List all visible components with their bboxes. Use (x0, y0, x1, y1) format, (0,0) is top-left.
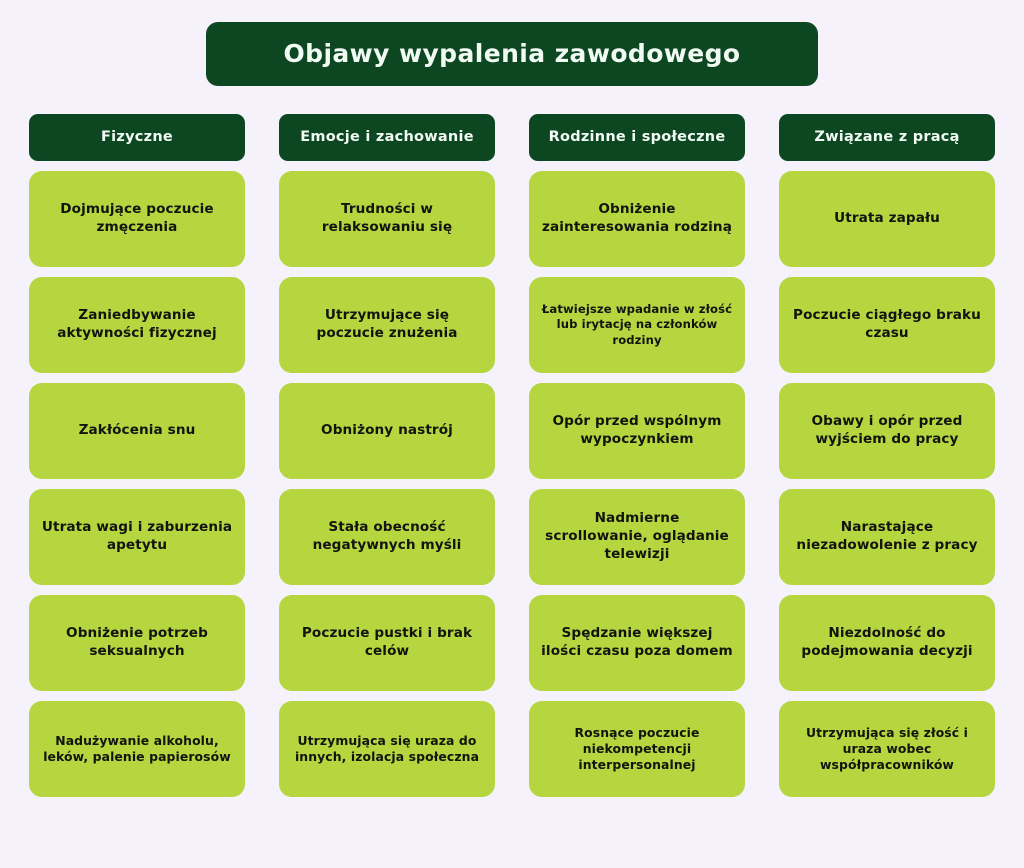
symptom-label: Obniżony nastrój (321, 422, 453, 440)
symptom-label: Utrzymujące się poczucie znużenia (291, 307, 483, 343)
symptom-card: Zaniedbywanie aktywności fizycznej (29, 277, 245, 373)
category-column-zwiazane-z-praca: Związane z pracą Utrata zapału Poczucie … (779, 114, 995, 804)
symptom-label: Utrzymująca się uraza do innych, izolacj… (291, 733, 483, 765)
symptom-label: Utrzymująca się złość i uraza wobec wspó… (791, 725, 983, 773)
symptom-card: Utrzymujące się poczucie znużenia (279, 277, 495, 373)
symptom-label: Narastające niezadowolenie z pracy (791, 519, 983, 555)
symptom-label: Dojmujące poczucie zmęczenia (41, 201, 233, 237)
category-column-rodzinne-i-spoleczne: Rodzinne i społeczne Obniżenie zainteres… (529, 114, 745, 804)
symptom-card: Łatwiejsze wpadanie w złość lub irytację… (529, 277, 745, 373)
symptom-card: Trudności w relaksowaniu się (279, 171, 495, 267)
symptom-label: Spędzanie większej ilości czasu poza dom… (541, 625, 733, 661)
symptom-label: Obawy i opór przed wyjściem do pracy (791, 413, 983, 449)
symptom-label: Trudności w relaksowaniu się (291, 201, 483, 237)
symptom-label: Zakłócenia snu (79, 422, 196, 440)
symptom-label: Rosnące poczucie niekompetencji interper… (541, 725, 733, 773)
symptom-card: Utrata zapału (779, 171, 995, 267)
page-title: Objawy wypalenia zawodowego (284, 40, 741, 68)
symptom-card: Obawy i opór przed wyjściem do pracy (779, 383, 995, 479)
column-header-label: Rodzinne i społeczne (549, 130, 726, 146)
symptom-card: Nadużywanie alkoholu, leków, palenie pap… (29, 701, 245, 797)
symptom-label: Utrata zapału (834, 210, 940, 228)
column-header-rodzinne-i-spoleczne: Rodzinne i społeczne (529, 114, 745, 161)
symptom-card: Obniżenie potrzeb seksualnych (29, 595, 245, 691)
symptom-label: Nadmierne scrollowanie, oglądanie telewi… (541, 510, 733, 564)
symptom-label: Opór przed wspólnym wypoczynkiem (541, 413, 733, 449)
symptom-label: Niezdolność do podejmowania decyzji (791, 625, 983, 661)
column-header-label: Związane z pracą (814, 130, 959, 146)
symptom-card: Obniżenie zainteresowania rodziną (529, 171, 745, 267)
symptom-label: Obniżenie zainteresowania rodziną (541, 201, 733, 237)
column-header-fizyczne: Fizyczne (29, 114, 245, 161)
symptom-card: Obniżony nastrój (279, 383, 495, 479)
symptom-label: Obniżenie potrzeb seksualnych (41, 625, 233, 661)
symptom-label: Poczucie pustki i brak celów (291, 625, 483, 661)
symptom-card: Rosnące poczucie niekompetencji interper… (529, 701, 745, 797)
symptom-card: Poczucie ciągłego braku czasu (779, 277, 995, 373)
symptom-label: Poczucie ciągłego braku czasu (791, 307, 983, 343)
category-column-emocje-i-zachowanie: Emocje i zachowanie Trudności w relaksow… (279, 114, 495, 804)
symptom-card: Opór przed wspólnym wypoczynkiem (529, 383, 745, 479)
symptoms-grid: Fizyczne Dojmujące poczucie zmęczenia Za… (29, 114, 995, 804)
symptom-card: Utrzymująca się złość i uraza wobec wspó… (779, 701, 995, 797)
symptom-label: Łatwiejsze wpadanie w złość lub irytację… (541, 302, 733, 347)
symptom-label: Stała obecność negatywnych myśli (291, 519, 483, 555)
column-header-label: Emocje i zachowanie (300, 130, 474, 146)
symptom-card: Niezdolność do podejmowania decyzji (779, 595, 995, 691)
symptom-label: Utrata wagi i zaburzenia apetytu (41, 519, 233, 555)
symptom-card: Zakłócenia snu (29, 383, 245, 479)
symptom-card: Narastające niezadowolenie z pracy (779, 489, 995, 585)
symptom-card: Utrata wagi i zaburzenia apetytu (29, 489, 245, 585)
symptom-card: Poczucie pustki i brak celów (279, 595, 495, 691)
column-header-label: Fizyczne (101, 130, 173, 146)
symptom-card: Spędzanie większej ilości czasu poza dom… (529, 595, 745, 691)
column-header-zwiazane-z-praca: Związane z pracą (779, 114, 995, 161)
infographic-page: Objawy wypalenia zawodowego Fizyczne Doj… (0, 0, 1024, 868)
symptom-label: Nadużywanie alkoholu, leków, palenie pap… (41, 733, 233, 765)
column-header-emocje-i-zachowanie: Emocje i zachowanie (279, 114, 495, 161)
symptom-card: Nadmierne scrollowanie, oglądanie telewi… (529, 489, 745, 585)
symptom-label: Zaniedbywanie aktywności fizycznej (41, 307, 233, 343)
symptom-card: Stała obecność negatywnych myśli (279, 489, 495, 585)
page-title-banner: Objawy wypalenia zawodowego (206, 22, 818, 86)
symptom-card: Dojmujące poczucie zmęczenia (29, 171, 245, 267)
symptom-card: Utrzymująca się uraza do innych, izolacj… (279, 701, 495, 797)
category-column-fizyczne: Fizyczne Dojmujące poczucie zmęczenia Za… (29, 114, 245, 804)
